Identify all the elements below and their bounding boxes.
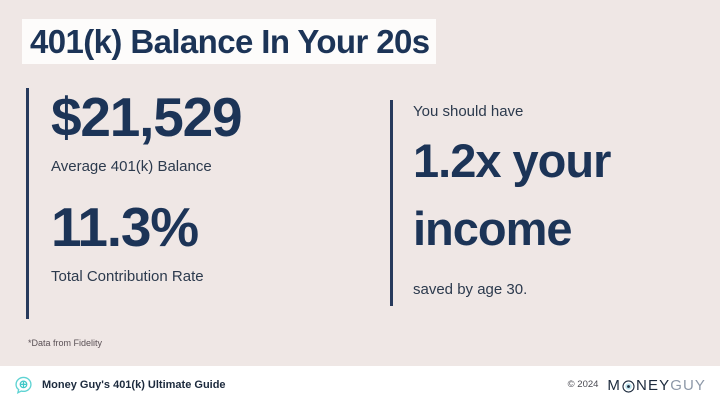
benchmark-lead-text: You should have bbox=[413, 104, 523, 119]
stat-block-contribution-rate: 11.3% Total Contribution Rate bbox=[51, 200, 204, 284]
brand-letter-m: M bbox=[607, 378, 621, 393]
right-benchmark-column: You should have 1.2x your income saved b… bbox=[390, 100, 700, 306]
moneyguy-logo: M NEY GUY bbox=[607, 378, 706, 393]
left-stat-column: $21,529 Average 401(k) Balance 11.3% Tot… bbox=[26, 88, 356, 319]
title-highlight-band: 401(k) Balance In Your 20s bbox=[22, 19, 436, 64]
benchmark-trailing-text: saved by age 30. bbox=[413, 282, 527, 297]
brand-letters-guy: GUY bbox=[670, 378, 706, 393]
page-title: 401(k) Balance In Your 20s bbox=[30, 25, 430, 58]
benchmark-headline-line-1: 1.2x your bbox=[413, 137, 610, 184]
footer-bar: Money Guy's 401(k) Ultimate Guide © 2024… bbox=[0, 366, 720, 404]
brand-letters-ney: NEY bbox=[636, 378, 670, 393]
infographic-canvas: 401(k) Balance In Your 20s $21,529 Avera… bbox=[0, 0, 720, 404]
stat-block-average-balance: $21,529 Average 401(k) Balance bbox=[51, 90, 241, 174]
money-guy-badge-icon bbox=[14, 376, 33, 395]
data-source-footnote: *Data from Fidelity bbox=[28, 339, 102, 348]
stat-value: $21,529 bbox=[51, 90, 241, 145]
target-o-icon bbox=[622, 380, 635, 393]
footer-guide-label: Money Guy's 401(k) Ultimate Guide bbox=[42, 380, 226, 391]
stat-label: Total Contribution Rate bbox=[51, 269, 204, 284]
copyright-text: © 2024 bbox=[568, 380, 599, 390]
benchmark-headline-line-2: income bbox=[413, 205, 572, 252]
footer-guide-link[interactable]: Money Guy's 401(k) Ultimate Guide bbox=[14, 376, 226, 395]
stat-label: Average 401(k) Balance bbox=[51, 159, 241, 174]
stat-value: 11.3% bbox=[51, 200, 204, 255]
footer-brand-group: © 2024 M NEY GUY bbox=[568, 378, 706, 393]
